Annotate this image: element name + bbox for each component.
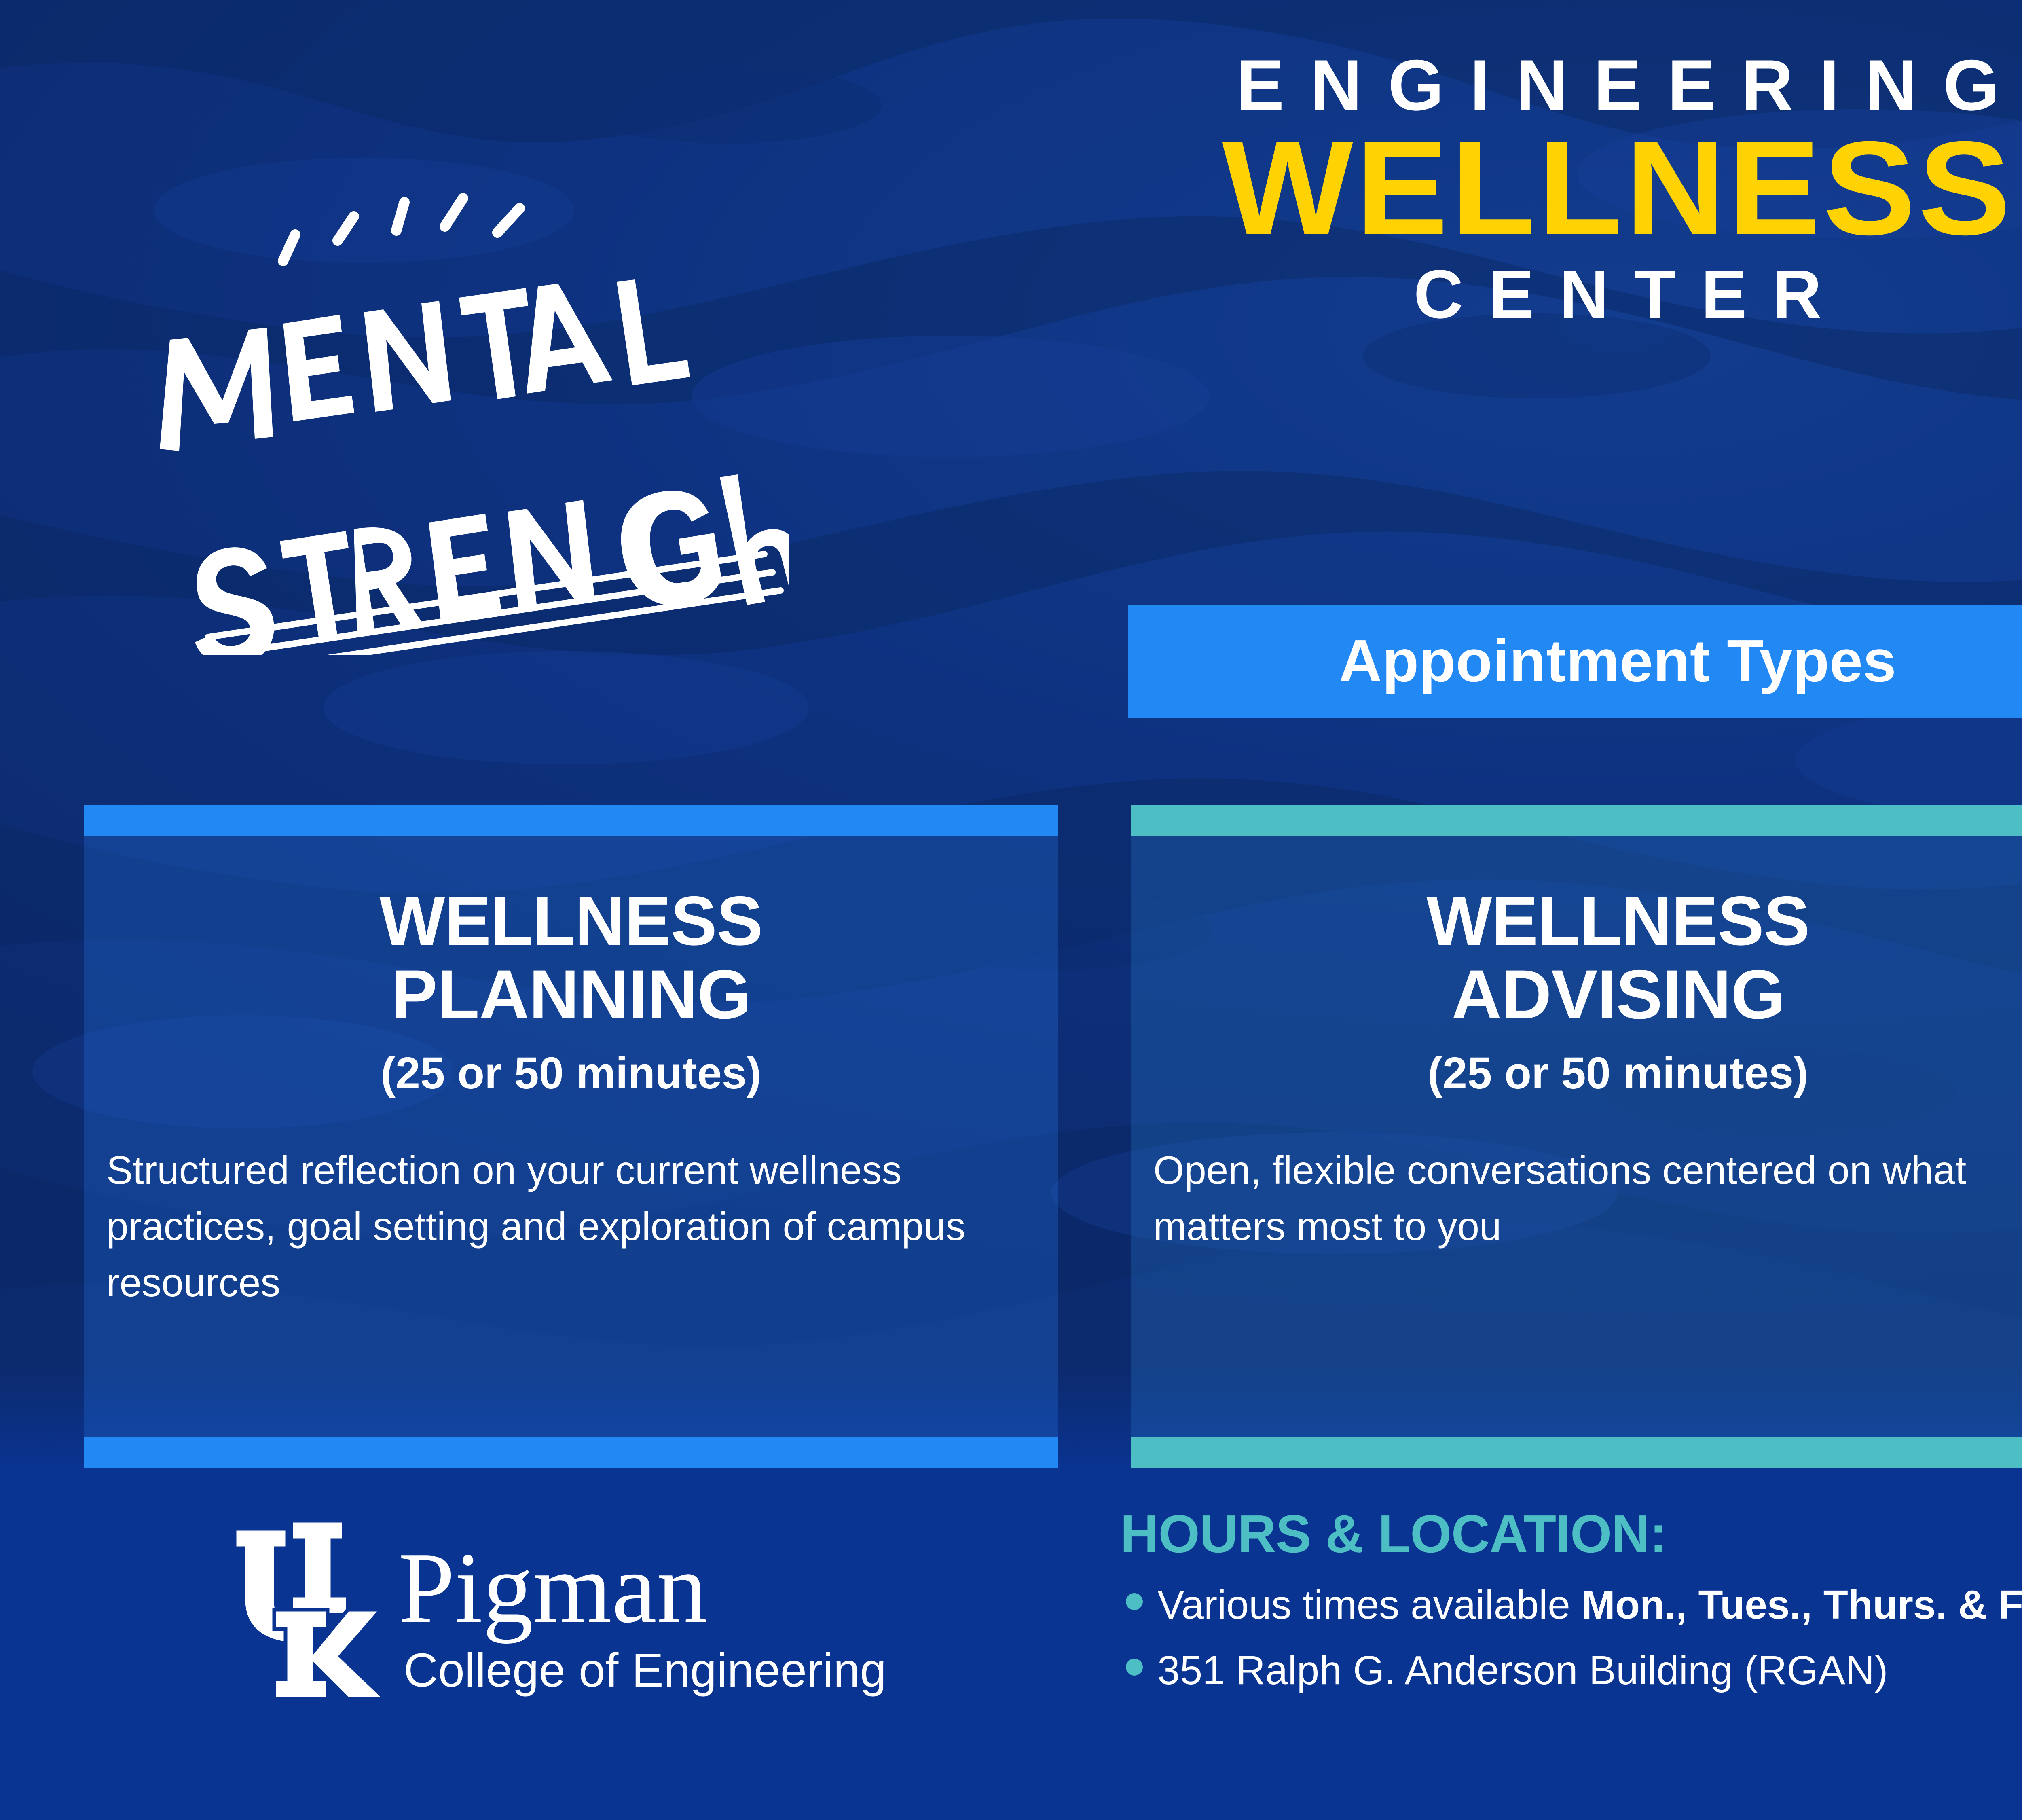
appointment-cards: WELLNESS PLANNING (25 or 50 minutes) Str… [0,805,2022,1468]
hours-location-list: Various times available Mon., Tues., Thu… [1120,1581,2022,1694]
card-accent-bar-bottom [1131,1437,2022,1468]
card-duration: (25 or 50 minutes) [1153,1049,2022,1098]
title-line-center: CENTER [890,258,2022,331]
card-description: Open, flexible conversations centered on… [1153,1142,2022,1255]
footer: Pigman College of Engineering HOURS & LO… [0,1472,2022,1820]
card-accent-bar-top [84,805,1058,836]
card-title: WELLNESS ADVISING [1153,884,2022,1032]
card-title-line1: WELLNESS [1426,882,1810,960]
card-body: WELLNESS ADVISING (25 or 50 minutes) Ope… [1131,836,2022,1437]
card-title-line2: ADVISING [1451,956,1784,1033]
bullet-dot-icon [1126,1659,1143,1676]
list-item: 351 Ralph G. Anderson Building (RGAN) [1120,1646,2022,1694]
uk-pigman-logo: Pigman College of Engineering [226,1517,938,1711]
list-item-text: Various times available [1157,1582,1582,1627]
list-item: Various times available Mon., Tues., Thu… [1120,1581,2022,1629]
card-title-line1: WELLNESS [379,882,763,960]
list-item-text: 351 Ralph G. Anderson Building (RGAN) [1157,1648,1888,1693]
card-body: WELLNESS PLANNING (25 or 50 minutes) Str… [84,836,1058,1437]
title-line-wellness: WELLNESS [861,125,2022,252]
hours-location-title: HOURS & LOCATION: [1120,1505,2022,1563]
appointment-card-wellness-advising[interactable]: WELLNESS ADVISING (25 or 50 minutes) Ope… [1131,805,2022,1468]
card-title: WELLNESS PLANNING [106,884,1036,1032]
logo-wordmark-text: Pigman [398,1532,707,1644]
title-block: ENGINEERING WELLNESS CENTER [890,49,2022,331]
card-title-line2: PLANNING [391,956,751,1033]
appointment-types-banner: Appointment Types [1128,605,2022,718]
card-description: Structured reflection on your current we… [106,1142,1036,1311]
mental-strength-badge [121,170,789,655]
card-accent-bar-top [1131,805,2022,836]
bullet-dot-icon [1126,1593,1143,1610]
poster-root: ENGINEERING WELLNESS CENTER Appointment … [0,0,2022,1820]
header: ENGINEERING WELLNESS CENTER [0,0,2022,586]
hours-location-block: HOURS & LOCATION: Various times availabl… [1120,1505,2022,1712]
card-duration: (25 or 50 minutes) [106,1049,1036,1098]
title-line-engineering: ENGINEERING [890,49,2022,122]
list-item-text-bold: Mon., Tues., Thurs. & Fri. [1582,1582,2022,1627]
appointment-types-label: Appointment Types [1339,627,1897,696]
logo-subtitle-text: College of Engineering [404,1644,886,1697]
appointment-card-wellness-planning[interactable]: WELLNESS PLANNING (25 or 50 minutes) Str… [84,805,1058,1468]
card-accent-bar-bottom [84,1437,1058,1468]
